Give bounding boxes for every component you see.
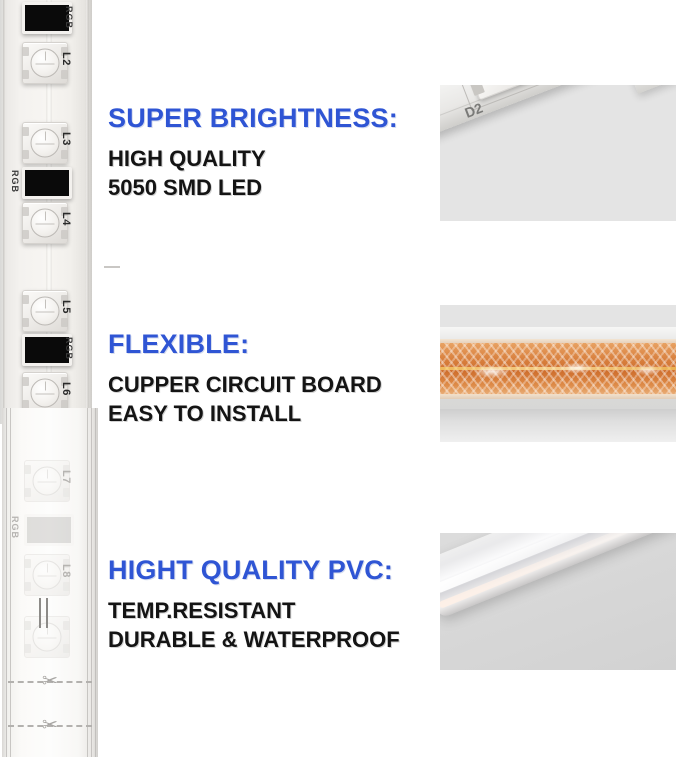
feature-body-line: EASY TO INSTALL [108, 400, 382, 428]
cut-marker-2: ✂ [8, 714, 92, 738]
feature-body-line: TEMP.RESISTANT [108, 597, 400, 625]
rgb-label: RGB [64, 6, 74, 29]
feature-body-line: 5050 SMD LED [108, 174, 398, 202]
led-dome-icon [31, 297, 60, 326]
led-label-l3: L3 [60, 132, 72, 146]
feature-body-line: DURABLE & WATERPROOF [108, 626, 400, 654]
feature-block-high-quality-pvc: HIGHT QUALITY PVC: TEMP.RESISTANT DURABL… [108, 556, 400, 654]
feature-body-line: HIGH QUALITY [108, 145, 398, 173]
strip-rail-left [3, 0, 6, 424]
led-strip-lower-pvc: L7 RGB L8 ✂ ✂ [2, 408, 98, 757]
led-label-l8: L8 [60, 564, 72, 578]
led-dome-icon [33, 467, 62, 496]
led-label-l7: L7 [60, 470, 72, 484]
smd-5050-package [460, 85, 533, 100]
rgb-label: RGB [64, 337, 74, 360]
led-label-l6: L6 [60, 382, 72, 396]
feature-heading: FLEXIBLE: [108, 330, 382, 358]
scissors-icon: ✂ [42, 672, 64, 692]
led-label-l2: L2 [60, 52, 72, 66]
rgb-label: RGB [10, 170, 20, 193]
solder-wires [36, 598, 52, 628]
separator-dash [104, 266, 120, 268]
copper-edge-bottom [440, 394, 676, 399]
led-label-l4: L4 [60, 212, 72, 226]
feature-block-flexible: FLEXIBLE: CUPPER CIRCUIT BOARD EASY TO I… [108, 330, 382, 428]
led-label-l5: L5 [60, 300, 72, 314]
rgb-label: RGB [10, 516, 20, 539]
photo-copper-circuit-board [440, 305, 676, 442]
rgb-block [22, 167, 72, 199]
strip-rail-right [86, 0, 89, 424]
pcb-strip-secondary [610, 85, 676, 94]
led-dome-icon [31, 129, 60, 158]
copper-braid [440, 343, 676, 395]
led-dome-icon [31, 49, 60, 78]
infographic-canvas: RGB L2 L3 RGB L4 L5 RGB L6 [0, 0, 679, 757]
led-dome-icon [31, 379, 60, 408]
feature-heading: SUPER BRIGHTNESS: [108, 104, 398, 132]
feature-body-line: CUPPER CIRCUIT BOARD [108, 371, 382, 399]
photo-smd-led-macro: R11 D2 + - [440, 85, 676, 221]
feature-heading: HIGHT QUALITY PVC: [108, 556, 400, 584]
feature-body: HIGH QUALITY 5050 SMD LED [108, 145, 398, 201]
led-dome-icon [33, 561, 62, 590]
feature-body: CUPPER CIRCUIT BOARD EASY TO INSTALL [108, 371, 382, 427]
scissors-icon: ✂ [42, 716, 64, 736]
feature-block-super-brightness: SUPER BRIGHTNESS: HIGH QUALITY 5050 SMD … [108, 104, 398, 202]
pvc-tube-lower [440, 409, 676, 442]
photo-pvc-sleeve [440, 533, 676, 670]
led-strip-upper: RGB L2 L3 RGB L4 L5 RGB L6 [0, 0, 92, 424]
rgb-block [24, 514, 74, 546]
led-dome-icon [31, 209, 60, 238]
cut-marker-1: ✂ [8, 670, 92, 694]
feature-body: TEMP.RESISTANT DURABLE & WATERPROOF [108, 597, 400, 653]
